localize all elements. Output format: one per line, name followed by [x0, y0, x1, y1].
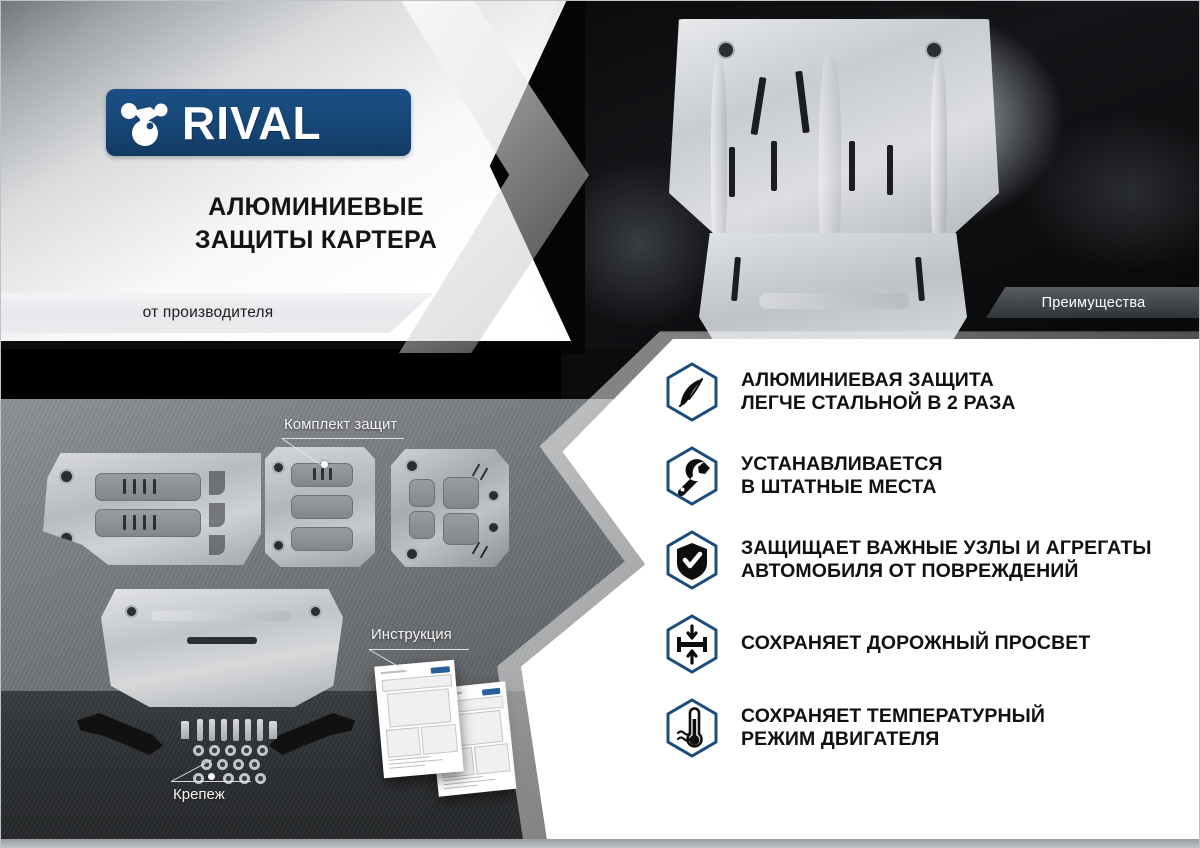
ground-clearance-icon [661, 613, 723, 675]
advantages-tab[interactable]: Преимущества [986, 287, 1200, 318]
logo-wordmark: RIVAL [182, 100, 322, 146]
rival-skid-plate-banner: RIVAL АЛЮМИНИЕВЫЕ ЗАЩИТЫ КАРТЕРА от прои… [0, 0, 1200, 848]
feature-text-install: УСТАНАВЛИВАЕТСЯ В ШТАТНЫЕ МЕСТА [741, 453, 943, 500]
feature-weight-line2: ЛЕГЧЕ СТАЛЬНОЙ В 2 РАЗА [741, 392, 1016, 415]
feature-item-weight: АЛЮМИНИЕВАЯ ЗАЩИТА ЛЕГЧЕ СТАЛЬНОЙ В 2 РА… [661, 361, 1181, 423]
feature-temperature-line2: РЕЖИМ ДВИГАТЕЛЯ [741, 728, 1045, 751]
features-list: АЛЮМИНИЕВАЯ ЗАЩИТА ЛЕГЧЕ СТАЛЬНОЙ В 2 РА… [661, 361, 1181, 781]
callout-manual-label: Инструкция [371, 626, 452, 643]
subtitle-band: от производителя [1, 293, 433, 333]
shield-check-icon [661, 529, 723, 591]
feature-weight-line1: АЛЮМИНИЕВАЯ ЗАЩИТА [741, 369, 994, 391]
feature-clearance-line1: СОХРАНЯЕТ ДОРОЖНЫЙ ПРОСВЕТ [741, 632, 1090, 654]
callout-kit-dot [321, 461, 328, 468]
instruction-sheet-front [374, 660, 463, 779]
wrench-icon [661, 445, 723, 507]
molecule-icon [114, 95, 180, 151]
feature-protection-line2: АВТОМОБИЛЯ ОТ ПОВРЕЖДЕНИЙ [741, 560, 1152, 583]
feather-icon [661, 361, 723, 423]
thermometer-icon [661, 697, 723, 759]
subtitle-text: от производителя [143, 304, 292, 322]
feature-item-temperature: СОХРАНЯЕТ ТЕМПЕРАТУРНЫЙ РЕЖИМ ДВИГАТЕЛЯ [661, 697, 1181, 759]
skid-plate-3 [391, 449, 509, 567]
feature-temperature-line1: СОХРАНЯЕТ ТЕМПЕРАТУРНЫЙ [741, 705, 1045, 727]
feature-install-line2: В ШТАТНЫЕ МЕСТА [741, 476, 943, 499]
callout-hardware-label: Крепеж [173, 786, 225, 803]
feature-item-protection: ЗАЩИЩАЕТ ВАЖНЫЕ УЗЛЫ И АГРЕГАТЫ АВТОМОБИ… [661, 529, 1181, 591]
bottom-border [1, 839, 1200, 848]
advantages-tab-label: Преимущества [1042, 295, 1146, 311]
feature-install-line1: УСТАНАВЛИВАЕТСЯ [741, 453, 943, 475]
feature-item-clearance: СОХРАНЯЕТ ДОРОЖНЫЙ ПРОСВЕТ [661, 613, 1181, 675]
callout-kit-label: Комплект защит [284, 416, 397, 433]
feature-text-weight: АЛЮМИНИЕВАЯ ЗАЩИТА ЛЕГЧЕ СТАЛЬНОЙ В 2 РА… [741, 369, 1016, 416]
feature-item-install: УСТАНАВЛИВАЕТСЯ В ШТАТНЫЕ МЕСТА [661, 445, 1181, 507]
skid-plate-4 [101, 589, 343, 707]
rival-logo: RIVAL [106, 89, 411, 156]
feature-text-clearance: СОХРАНЯЕТ ДОРОЖНЫЙ ПРОСВЕТ [741, 632, 1090, 655]
page-title: АЛЮМИНИЕВЫЕ ЗАЩИТЫ КАРТЕРА [106, 191, 526, 257]
headline-line-1: АЛЮМИНИЕВЫЕ [106, 191, 526, 224]
feature-text-protection: ЗАЩИЩАЕТ ВАЖНЫЕ УЗЛЫ И АГРЕГАТЫ АВТОМОБИ… [741, 537, 1152, 584]
dark-divider-band [1, 349, 561, 399]
feature-protection-line1: ЗАЩИЩАЕТ ВАЖНЫЕ УЗЛЫ И АГРЕГАТЫ [741, 537, 1152, 559]
feature-text-temperature: СОХРАНЯЕТ ТЕМПЕРАТУРНЫЙ РЕЖИМ ДВИГАТЕЛЯ [741, 705, 1045, 752]
